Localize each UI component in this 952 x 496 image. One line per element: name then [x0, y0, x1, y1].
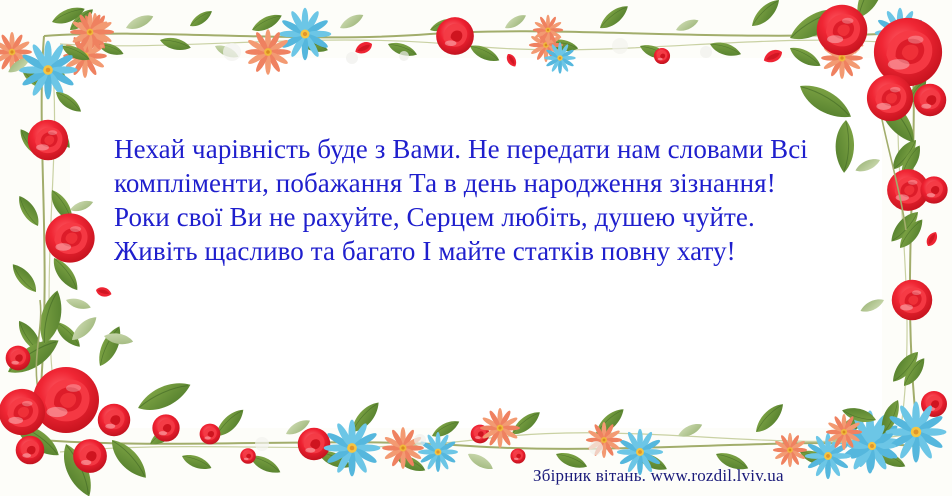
- greeting-card: Нехай чарівність буде з Вами. Не передат…: [0, 0, 952, 496]
- footer-credit: Збірник вітань. www.rozdil.lviv.ua: [533, 466, 784, 486]
- bottom-left-rose-cluster: [0, 288, 195, 496]
- top-vine-garland: [0, 0, 925, 79]
- greeting-text: Нехай чарівність буде з Вами. Не передат…: [114, 132, 830, 268]
